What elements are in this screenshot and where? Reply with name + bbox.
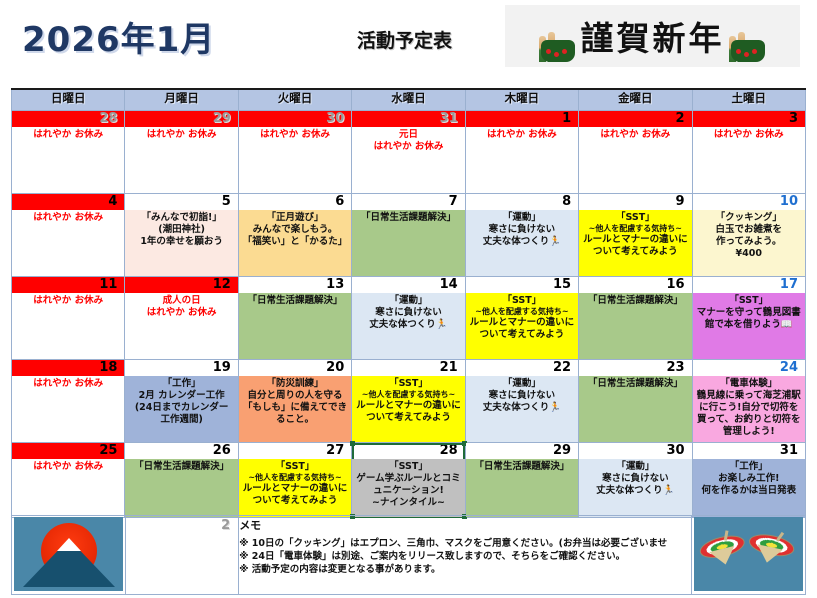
calendar-day-cell[interactable]: 31「工作」 お楽しみ工作! 何を作るかは当日発表 bbox=[692, 443, 805, 518]
event-subtitle: ~他人を配慮する気持ち~ bbox=[241, 473, 349, 483]
holiday-label: はれやか お休み bbox=[12, 210, 124, 224]
calendar-day-cell[interactable]: 7「日常生活課題解決」 bbox=[352, 194, 465, 277]
day-number: 22 bbox=[466, 360, 578, 376]
kadomatsu-icon bbox=[729, 10, 767, 62]
weekday-header-thursday: 木曜日 bbox=[465, 89, 578, 111]
day-number: 6 bbox=[239, 194, 351, 210]
day-number: 5 bbox=[125, 194, 237, 210]
day-number: 2 bbox=[579, 111, 691, 127]
day-number: 31 bbox=[693, 443, 805, 459]
mount-fuji-cell bbox=[12, 516, 126, 595]
day-number: 24 bbox=[693, 360, 805, 376]
calendar-day-cell[interactable]: 21「SST」~他人を配慮する気持ち~ルールとマナーの違いについて考えてみよう bbox=[352, 360, 465, 443]
calendar-day-cell[interactable]: 5「みんなで初詣!」 (潮田神社) 1年の幸せを願おう bbox=[125, 194, 238, 277]
holiday-label: はれやか お休み bbox=[12, 293, 124, 307]
event-label: 「工作」 お楽しみ工作! 何を作るかは当日発表 bbox=[693, 459, 805, 517]
calendar-day-cell[interactable]: 17「SST」 マナーを守って鶴見図書館で本を借りよう📖 bbox=[692, 277, 805, 360]
day-number: 30 bbox=[239, 111, 351, 127]
day-number: 1 bbox=[466, 111, 578, 127]
event-subtitle: ~他人を配慮する気持ち~ bbox=[354, 390, 462, 400]
event-label: 「日常生活課題解決」 bbox=[579, 376, 691, 442]
day-number: 17 bbox=[693, 277, 805, 293]
event-label: 「クッキング」 白玉でお雑煮を 作ってみよう。 ¥400 bbox=[693, 210, 805, 276]
calendar-day-cell[interactable]: 4はれやか お休み bbox=[12, 194, 125, 277]
day-number: 15 bbox=[466, 277, 578, 293]
next-month-day-cell[interactable]: 2 bbox=[126, 516, 239, 595]
day-number: 8 bbox=[466, 194, 578, 210]
day-number: 20 bbox=[239, 360, 351, 376]
new-year-banner: 謹賀新年 bbox=[505, 5, 800, 67]
day-number: 29 bbox=[125, 111, 237, 127]
calendar-day-cell[interactable]: 14「運動」 寒さに負けない 丈夫な体つくり🏃 bbox=[352, 277, 465, 360]
event-label: 「運動」 寒さに負けない 丈夫な体つくり🏃 bbox=[466, 210, 578, 276]
memo-cell[interactable]: メモ ※ 10日の「クッキング」はエプロン、三角巾、マスクをご用意ください。(お… bbox=[239, 516, 692, 595]
day-number: 3 bbox=[693, 111, 805, 127]
calendar-day-cell[interactable]: 8「運動」 寒さに負けない 丈夫な体つくり🏃 bbox=[465, 194, 578, 277]
calendar-day-cell[interactable]: 11はれやか お休み bbox=[12, 277, 125, 360]
day-number: 18 bbox=[12, 360, 124, 376]
calendar-day-cell[interactable]: 10「クッキング」 白玉でお雑煮を 作ってみよう。 ¥400 bbox=[692, 194, 805, 277]
memo-line: ※ 10日の「クッキング」はエプロン、三角巾、マスクをご用意ください。(お弁当は… bbox=[239, 537, 691, 550]
calendar-day-cell[interactable]: 15「SST」~他人を配慮する気持ち~ルールとマナーの違いについて考えてみよう bbox=[465, 277, 578, 360]
event-label: 「運動」 寒さに負けない 丈夫な体つくり🏃 bbox=[579, 459, 691, 517]
footer: 2 メモ ※ 10日の「クッキング」はエプロン、三角巾、マスクをご用意ください。… bbox=[11, 515, 806, 593]
calendar-day-cell[interactable]: 2はれやか お休み bbox=[579, 111, 692, 194]
day-number: 28 bbox=[352, 443, 464, 459]
day-number: 11 bbox=[12, 277, 124, 293]
calendar-page: 2026年1月 活動予定表 謹賀新年 日曜日 月曜日 火曜日 水曜日 木 bbox=[0, 0, 817, 598]
event-label: 「SST」~他人を配慮する気持ち~ルールとマナーの違いについて考えてみよう bbox=[579, 210, 691, 276]
calendar-day-cell[interactable]: 24「電車体験」 鶴見線に乗って海芝浦駅に行こう!自分で切符を買って、お釣りと切… bbox=[692, 360, 805, 443]
event-label: 「日常生活課題解決」 bbox=[239, 293, 351, 359]
day-number: 10 bbox=[693, 194, 805, 210]
event-label: 「日常生活課題解決」 bbox=[579, 293, 691, 359]
memo-line: ※ 活動予定の内容は変更となる事があります。 bbox=[239, 563, 691, 576]
calendar-day-cell[interactable]: 12成人の日 はれやか お休み bbox=[125, 277, 238, 360]
day-number: 29 bbox=[466, 443, 578, 459]
holiday-label: はれやか お休み bbox=[579, 127, 691, 141]
event-label: 「工作」 2月 カレンダー工作 (24日までカレンダー 工作週間) bbox=[125, 376, 237, 442]
new-year-greeting: 謹賀新年 bbox=[581, 12, 725, 60]
holiday-label: はれやか お休み bbox=[466, 127, 578, 141]
calendar-day-cell[interactable]: 20「防災訓練」 自分と周りの人を守る 「もしも」に備えてできること。 bbox=[238, 360, 351, 443]
memo-title: メモ bbox=[239, 517, 691, 533]
event-label: 「運動」 寒さに負けない 丈夫な体つくり🏃 bbox=[466, 376, 578, 442]
event-label: 「SST」 ゲーム学ぶルールとコミュニケーション! ~ナインタイル~ bbox=[352, 459, 464, 517]
weekday-header-friday: 金曜日 bbox=[579, 89, 692, 111]
weekday-header-wednesday: 水曜日 bbox=[352, 89, 465, 111]
calendar-day-cell[interactable]: 9「SST」~他人を配慮する気持ち~ルールとマナーの違いについて考えてみよう bbox=[579, 194, 692, 277]
event-label: 「SST」~他人を配慮する気持ち~ルールとマナーの違いについて考えてみよう bbox=[239, 459, 351, 517]
calendar-week-row: 4はれやか お休み5「みんなで初詣!」 (潮田神社) 1年の幸せを願おう6「正月… bbox=[12, 194, 806, 277]
day-number: 12 bbox=[125, 277, 237, 293]
day-number: 9 bbox=[579, 194, 691, 210]
day-number: 27 bbox=[239, 443, 351, 459]
calendar-week-row: 18はれやか お休み19「工作」 2月 カレンダー工作 (24日までカレンダー … bbox=[12, 360, 806, 443]
weekday-header-saturday: 土曜日 bbox=[692, 89, 805, 111]
calendar-week-row: 28はれやか お休み29はれやか お休み30はれやか お休み31元日 はれやか … bbox=[12, 111, 806, 194]
selection-handle[interactable] bbox=[350, 441, 355, 446]
calendar-week-row: 11はれやか お休み12成人の日 はれやか お休み13「日常生活課題解決」14「… bbox=[12, 277, 806, 360]
calendar-day-cell[interactable]: 27「SST」~他人を配慮する気持ち~ルールとマナーの違いについて考えてみよう bbox=[238, 443, 351, 518]
calendar-day-cell[interactable]: 22「運動」 寒さに負けない 丈夫な体つくり🏃 bbox=[465, 360, 578, 443]
calendar-week-row: 25はれやか お休み26「日常生活課題解決」27「SST」~他人を配慮する気持ち… bbox=[12, 443, 806, 518]
calendar-day-cell[interactable]: 29はれやか お休み bbox=[125, 111, 238, 194]
day-number: 4 bbox=[12, 194, 124, 210]
holiday-label: 成人の日 はれやか お休み bbox=[125, 293, 237, 319]
day-number: 14 bbox=[352, 277, 464, 293]
event-label: 「みんなで初詣!」 (潮田神社) 1年の幸せを願おう bbox=[125, 210, 237, 276]
event-subtitle: ~他人を配慮する気持ち~ bbox=[468, 307, 576, 317]
calendar-day-cell[interactable]: 23「日常生活課題解決」 bbox=[579, 360, 692, 443]
calendar-day-cell[interactable]: 25はれやか お休み bbox=[12, 443, 125, 518]
spinning-top-cell bbox=[692, 516, 806, 595]
day-number: 25 bbox=[12, 443, 124, 459]
day-number: 30 bbox=[579, 443, 691, 459]
event-label: 「SST」~他人を配慮する気持ち~ルールとマナーの違いについて考えてみよう bbox=[352, 376, 464, 442]
page-header: 2026年1月 活動予定表 謹賀新年 bbox=[0, 0, 817, 78]
weekday-header-sunday: 日曜日 bbox=[12, 89, 125, 111]
event-label: 「日常生活課題解決」 bbox=[125, 459, 237, 517]
event-subtitle: ~他人を配慮する気持ち~ bbox=[581, 224, 689, 234]
day-number: 13 bbox=[239, 277, 351, 293]
event-label: 「運動」 寒さに負けない 丈夫な体つくり🏃 bbox=[352, 293, 464, 359]
calendar-day-cell[interactable]: 18はれやか お休み bbox=[12, 360, 125, 443]
calendar-day-cell[interactable]: 28「SST」 ゲーム学ぶルールとコミュニケーション! ~ナインタイル~ bbox=[352, 443, 465, 518]
calendar-day-cell[interactable]: 6「正月遊び」 みんなで楽しもう。 「福笑い」と「かるた」 bbox=[238, 194, 351, 277]
day-number: 16 bbox=[579, 277, 691, 293]
spinning-top-icon bbox=[694, 517, 803, 591]
day-number: 21 bbox=[352, 360, 464, 376]
day-number: 26 bbox=[125, 443, 237, 459]
next-month-day-number: 2 bbox=[126, 516, 238, 533]
memo-line: ※ 24日「電車体験」は別途、ご案内をリリース致しますので、そちらをご確認くださ… bbox=[239, 550, 691, 563]
weekday-header-tuesday: 火曜日 bbox=[238, 89, 351, 111]
holiday-label: はれやか お休み bbox=[12, 459, 124, 473]
day-number: 31 bbox=[352, 111, 464, 127]
event-label: 「電車体験」 鶴見線に乗って海芝浦駅に行こう!自分で切符を買って、お釣りと切符を… bbox=[693, 376, 805, 442]
holiday-label: はれやか お休み bbox=[125, 127, 237, 141]
event-label: 「防災訓練」 自分と周りの人を守る 「もしも」に備えてできること。 bbox=[239, 376, 351, 442]
day-number: 19 bbox=[125, 360, 237, 376]
event-label: 「SST」 マナーを守って鶴見図書館で本を借りよう📖 bbox=[693, 293, 805, 359]
day-number: 7 bbox=[352, 194, 464, 210]
event-label: 「日常生活課題解決」 bbox=[352, 210, 464, 276]
event-label: 「SST」~他人を配慮する気持ち~ルールとマナーの違いについて考えてみよう bbox=[466, 293, 578, 359]
holiday-label: はれやか お休み bbox=[239, 127, 351, 141]
page-title: 2026年1月 bbox=[22, 12, 215, 61]
weekday-header-monday: 月曜日 bbox=[125, 89, 238, 111]
holiday-label: はれやか お休み bbox=[12, 376, 124, 390]
calendar-day-cell[interactable]: 30はれやか お休み bbox=[238, 111, 351, 194]
calendar-day-cell[interactable]: 16「日常生活課題解決」 bbox=[579, 277, 692, 360]
holiday-label: はれやか お休み bbox=[693, 127, 805, 141]
calendar-day-cell[interactable]: 19「工作」 2月 カレンダー工作 (24日までカレンダー 工作週間) bbox=[125, 360, 238, 443]
holiday-label: はれやか お休み bbox=[12, 127, 124, 141]
calendar-day-cell[interactable]: 29「日常生活課題解決」 bbox=[465, 443, 578, 518]
calendar-day-cell[interactable]: 3はれやか お休み bbox=[692, 111, 805, 194]
calendar-day-cell[interactable]: 1はれやか お休み bbox=[465, 111, 578, 194]
holiday-label: 元日 はれやか お休み bbox=[352, 127, 464, 153]
calendar-day-cell[interactable]: 28はれやか お休み bbox=[12, 111, 125, 194]
day-number: 28 bbox=[12, 111, 124, 127]
calendar-day-cell[interactable]: 26「日常生活課題解決」 bbox=[125, 443, 238, 518]
event-label: 「正月遊び」 みんなで楽しもう。 「福笑い」と「かるた」 bbox=[239, 210, 351, 276]
subtitle: 活動予定表 bbox=[357, 26, 452, 53]
calendar-table: 日曜日 月曜日 火曜日 水曜日 木曜日 金曜日 土曜日 28はれやか お休み29… bbox=[11, 88, 806, 518]
calendar-day-cell[interactable]: 30「運動」 寒さに負けない 丈夫な体つくり🏃 bbox=[579, 443, 692, 518]
calendar-day-cell[interactable]: 31元日 はれやか お休み bbox=[352, 111, 465, 194]
event-label: 「日常生活課題解決」 bbox=[466, 459, 578, 517]
kadomatsu-icon bbox=[539, 10, 577, 62]
weekday-header-row: 日曜日 月曜日 火曜日 水曜日 木曜日 金曜日 土曜日 bbox=[12, 89, 806, 111]
mount-fuji-icon bbox=[14, 517, 123, 591]
calendar-day-cell[interactable]: 13「日常生活課題解決」 bbox=[238, 277, 351, 360]
day-number: 23 bbox=[579, 360, 691, 376]
